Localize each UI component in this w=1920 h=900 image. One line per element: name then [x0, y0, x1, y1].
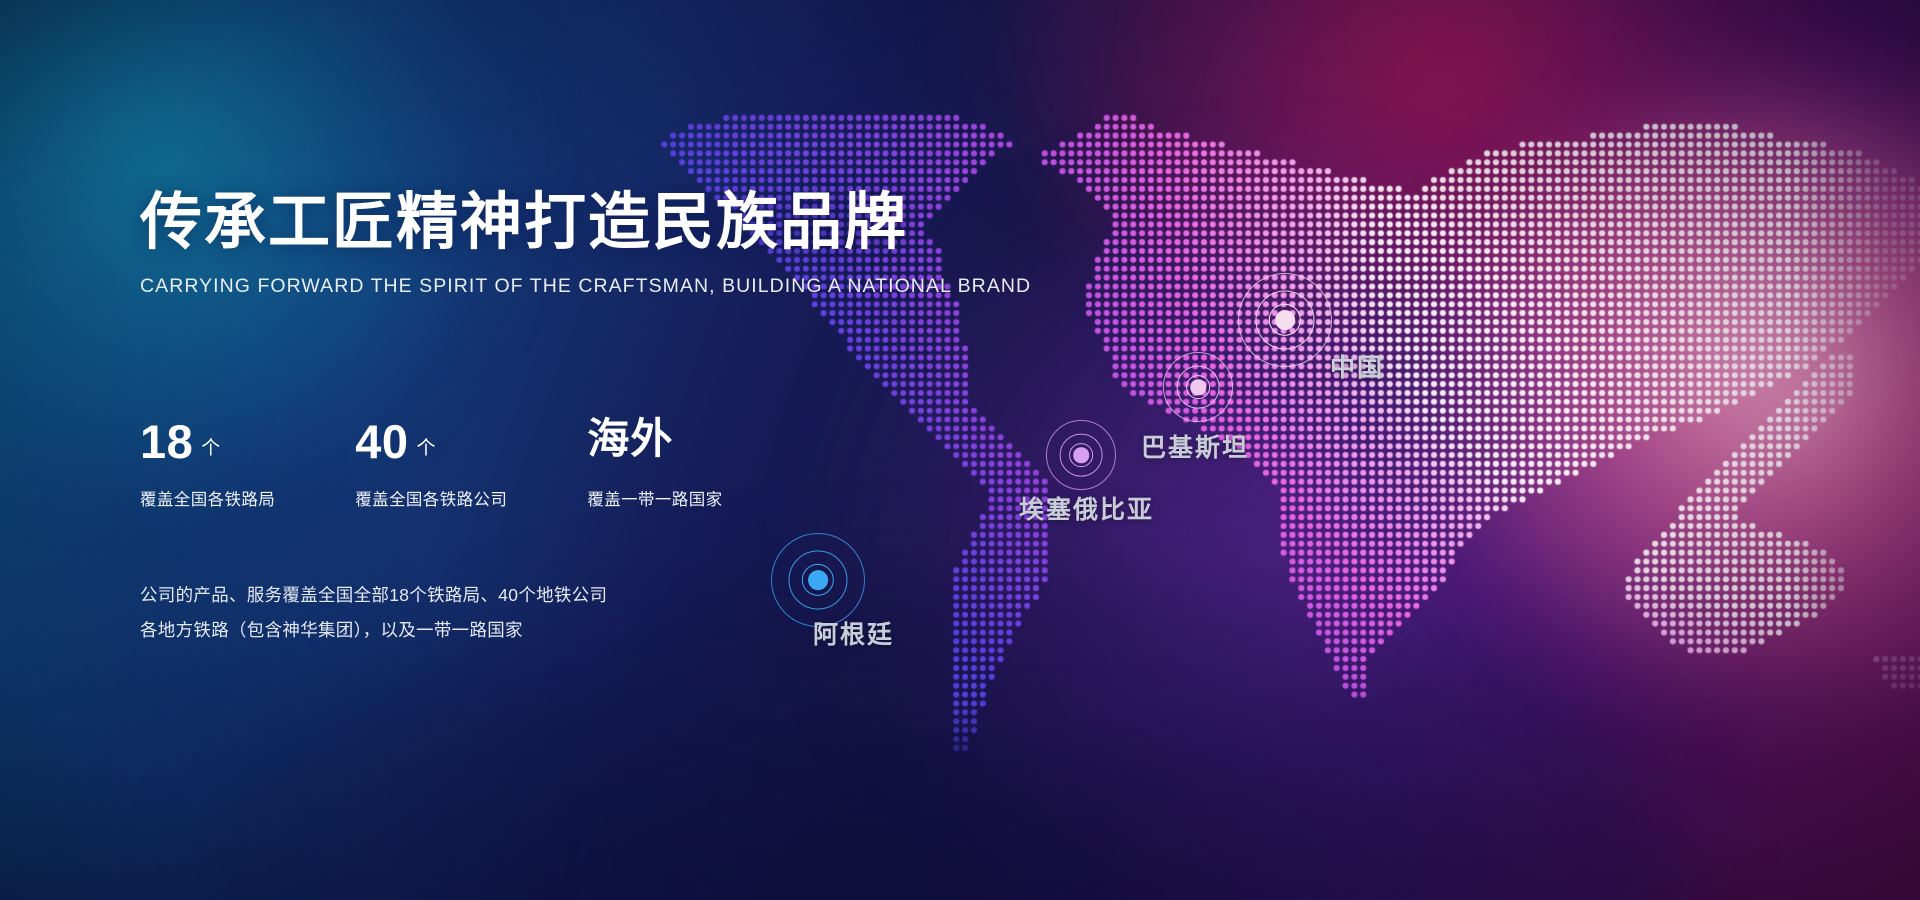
page-subtitle: CARRYING FORWARD THE SPIRIT OF THE CRAFT… — [140, 275, 900, 298]
body-description: 公司的产品、服务覆盖全国全部18个铁路局、40个地铁公司 各地方铁路（包含神华集… — [140, 578, 607, 648]
stat-label: 覆盖一带一路国家 — [587, 486, 722, 510]
page-title: 传承工匠精神打造民族品牌 — [140, 190, 900, 255]
map-label-ethiopia: 埃塞俄比亚 — [1019, 490, 1154, 526]
map-label-china: 中国 — [1330, 348, 1384, 384]
hero-banner: 中国巴基斯坦埃塞俄比亚阿根廷 传承工匠精神打造民族品牌 CARRYING FOR… — [0, 0, 1920, 900]
stat-label: 覆盖全国各铁路局 — [140, 486, 275, 510]
stat-label: 覆盖全国各铁路公司 — [355, 486, 507, 510]
hero-text-panel: 传承工匠精神打造民族品牌 CARRYING FORWARD THE SPIRIT… — [140, 190, 900, 298]
body-line-1: 公司的产品、服务覆盖全国全部18个铁路局、40个地铁公司 — [140, 578, 607, 613]
stat-item: 18个覆盖全国各铁路局 — [140, 418, 275, 510]
stat-item: 40个覆盖全国各铁路公司 — [355, 418, 507, 510]
map-label-pakistan: 巴基斯坦 — [1141, 428, 1249, 464]
statistics-row: 18个覆盖全国各铁路局40个覆盖全国各铁路公司海外覆盖一带一路国家 — [140, 418, 723, 510]
stat-value: 18 — [140, 418, 193, 465]
body-line-2: 各地方铁路（包含神华集团），以及一带一路国家 — [140, 613, 607, 648]
stat-value: 40 — [355, 418, 408, 465]
stat-value-row: 18个 — [140, 418, 275, 470]
stat-unit: 个 — [416, 439, 435, 458]
map-label-argentina: 阿根廷 — [813, 615, 894, 651]
stat-unit: 个 — [201, 439, 220, 458]
stat-value-row: 海外 — [587, 418, 722, 470]
stat-item: 海外覆盖一带一路国家 — [587, 418, 722, 510]
stat-value-row: 40个 — [355, 418, 507, 470]
stat-value: 海外 — [587, 418, 673, 460]
